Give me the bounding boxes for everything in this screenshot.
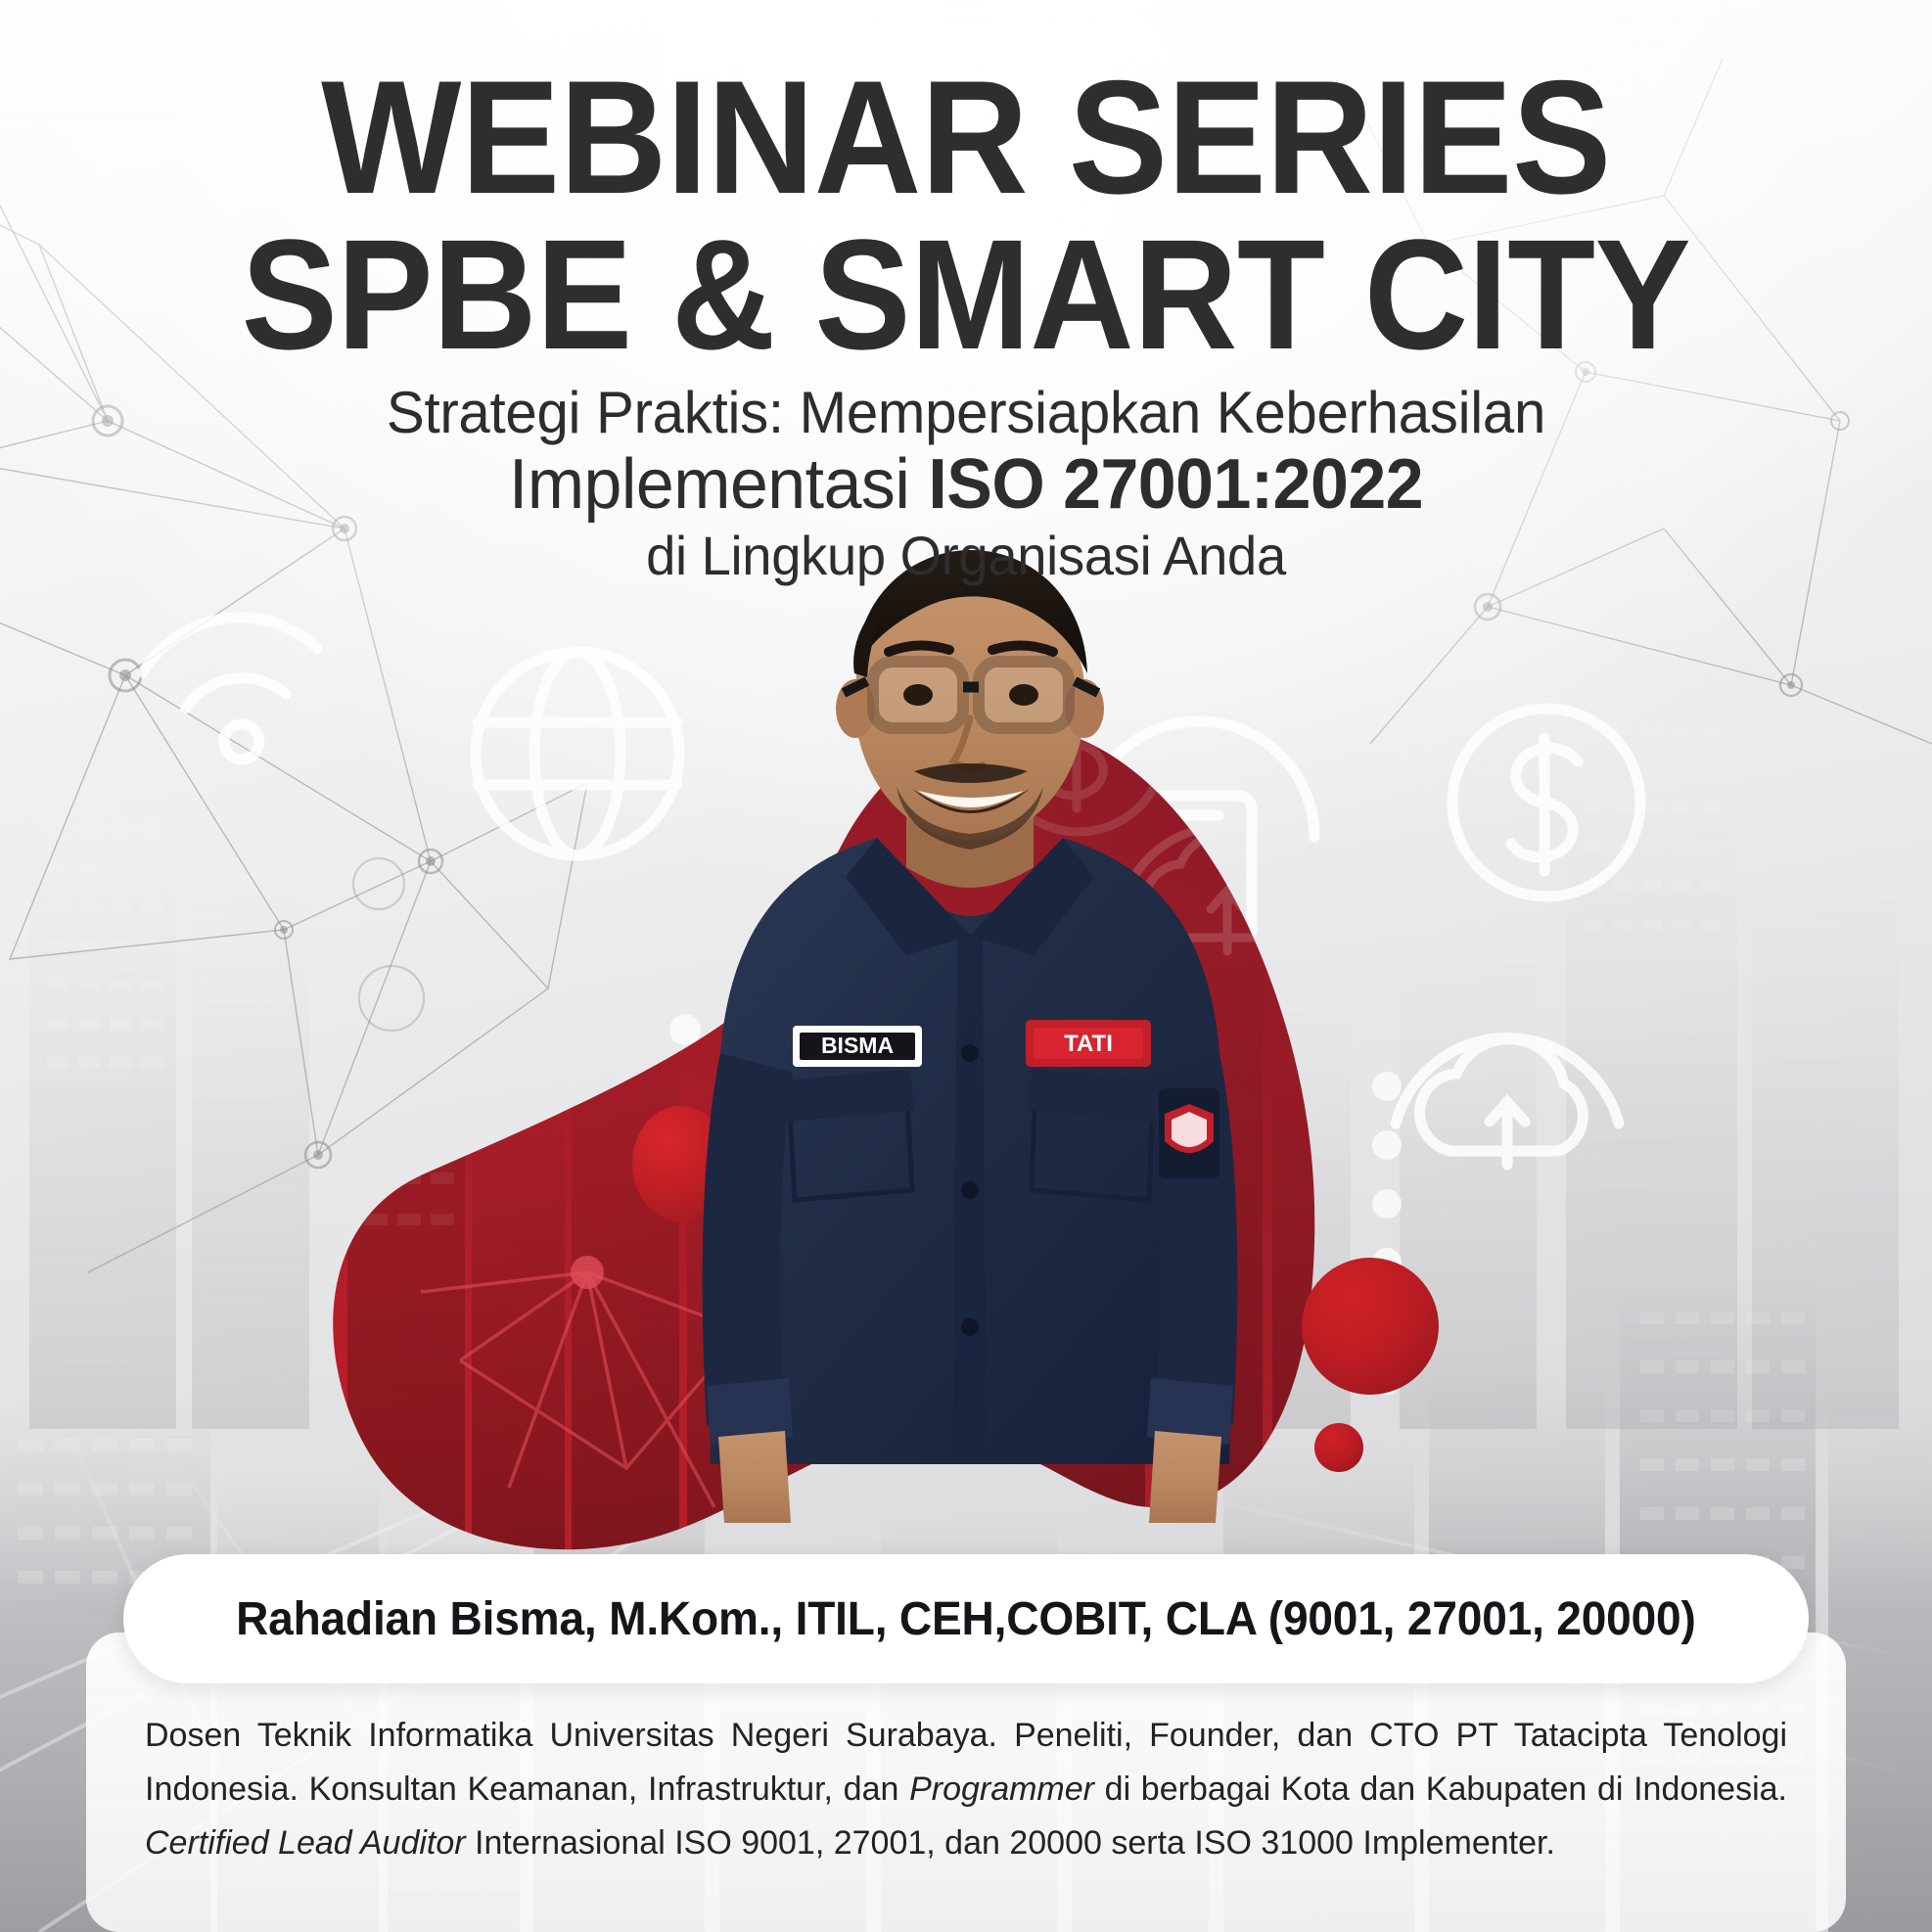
speaker-stage: BISMA TATI <box>0 548 1932 1605</box>
speaker-bio-text: Dosen Teknik Informatika Universitas Neg… <box>145 1709 1787 1870</box>
subtitle-block: Strategi Praktis: Mempersiapkan Keberhas… <box>0 382 1932 585</box>
subtitle-line-2-standard: ISO 27001:2022 <box>928 445 1423 524</box>
subtitle-line-1: Strategi Praktis: Mempersiapkan Keberhas… <box>29 382 1904 444</box>
headline-block: WEBINAR SERIES SPBE & SMART CITY <box>0 61 1932 369</box>
bio-italic-certified-lead-auditor: Certified Lead Auditor <box>145 1824 466 1862</box>
speaker-name-text: Rahadian Bisma, M.Kom., ITIL, CEH,COBIT,… <box>236 1592 1696 1646</box>
company-patch-text: TATI <box>1064 1031 1113 1057</box>
headline-line-1: WEBINAR SERIES <box>77 61 1855 214</box>
subtitle-line-3: di Lingkup Organisasi Anda <box>29 528 1904 585</box>
headline-line-2: SPBE & SMART CITY <box>77 220 1855 369</box>
subtitle-line-2-plain: Implementasi <box>509 445 928 524</box>
speaker-name-bar: Rahadian Bisma, M.Kom., ITIL, CEH,COBIT,… <box>123 1554 1809 1683</box>
name-tag-badge: BISMA <box>793 1026 922 1067</box>
shoulder-patch <box>1159 1088 1219 1178</box>
bio-part-2: di berbagai Kota dan Kabupaten di Indone… <box>1094 1771 1787 1808</box>
subtitle-line-2: Implementasi ISO 27001:2022 <box>29 448 1904 523</box>
name-tag-text: BISMA <box>821 1033 894 1058</box>
speaker-portrait: BISMA TATI <box>583 544 1357 1523</box>
bio-part-3: Internasional ISO 9001, 27001, dan 20000… <box>466 1824 1555 1862</box>
bio-italic-programmer: Programmer <box>909 1771 1094 1808</box>
webinar-poster: WEBINAR SERIES SPBE & SMART CITY Strateg… <box>0 0 1932 1932</box>
company-patch-badge: TATI <box>1026 1020 1151 1067</box>
